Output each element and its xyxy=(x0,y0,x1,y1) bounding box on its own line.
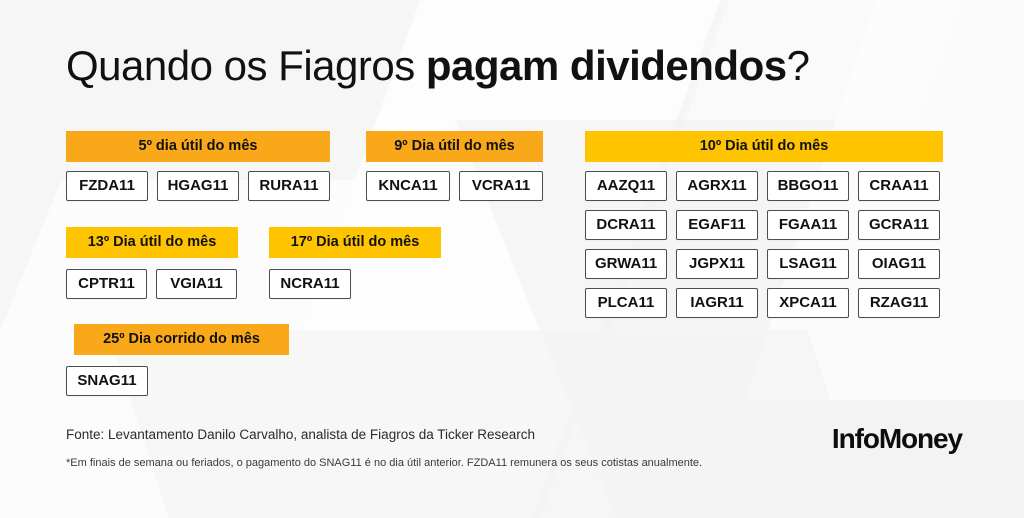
ticker-chip[interactable]: BBGO11 xyxy=(767,171,849,201)
group-header-10: 10º Dia útil do mês xyxy=(585,131,943,162)
group-9th-business-day: 9º Dia útil do mês KNCA11 VCRA11 xyxy=(366,131,543,201)
ticker-chip[interactable]: LSAG11 xyxy=(767,249,849,279)
title-suffix: ? xyxy=(787,42,810,89)
ticker-row: AAZQ11 AGRX11 BBGO11 CRAA11 xyxy=(585,171,943,201)
group-header-17: 17º Dia útil do mês xyxy=(269,227,441,258)
group-25th-calendar-day: 25º Dia corrido do mês SNAG11 xyxy=(66,324,289,396)
ticker-row: NCRA11 xyxy=(269,269,441,299)
ticker-chip[interactable]: CRAA11 xyxy=(858,171,940,201)
ticker-chip[interactable]: SNAG11 xyxy=(66,366,148,396)
ticker-chip[interactable]: DCRA11 xyxy=(585,210,667,240)
group-header-25: 25º Dia corrido do mês xyxy=(74,324,289,355)
ticker-row: CPTR11 VGIA11 xyxy=(66,269,238,299)
infomoney-logo: InfoMoney xyxy=(832,423,962,455)
source-credit: Fonte: Levantamento Danilo Carvalho, ana… xyxy=(66,427,535,442)
ticker-chip[interactable]: GCRA11 xyxy=(858,210,940,240)
ticker-row: PLCA11 IAGR11 XPCA11 RZAG11 xyxy=(585,288,943,318)
group-5th-business-day: 5º dia útil do mês FZDA11 HGAG11 RURA11 xyxy=(66,131,330,201)
ticker-chip[interactable]: CPTR11 xyxy=(66,269,147,299)
ticker-chip[interactable]: OIAG11 xyxy=(858,249,940,279)
ticker-chip[interactable]: PLCA11 xyxy=(585,288,667,318)
ticker-chip[interactable]: GRWA11 xyxy=(585,249,667,279)
title-regular: Quando os Fiagros xyxy=(66,42,426,89)
ticker-chip[interactable]: XPCA11 xyxy=(767,288,849,318)
group-17th-business-day: 17º Dia útil do mês NCRA11 xyxy=(269,227,441,299)
group-10th-business-day: 10º Dia útil do mês AAZQ11 AGRX11 BBGO11… xyxy=(585,131,943,318)
ticker-chip[interactable]: JGPX11 xyxy=(676,249,758,279)
ticker-chip[interactable]: EGAF11 xyxy=(676,210,758,240)
page-title: Quando os Fiagros pagam dividendos? xyxy=(66,40,809,92)
ticker-chip[interactable]: RURA11 xyxy=(248,171,330,201)
group-header-13: 13º Dia útil do mês xyxy=(66,227,238,258)
ticker-chip[interactable]: VGIA11 xyxy=(156,269,237,299)
ticker-row: GRWA11 JGPX11 LSAG11 OIAG11 xyxy=(585,249,943,279)
ticker-chip[interactable]: VCRA11 xyxy=(459,171,543,201)
ticker-chip[interactable]: HGAG11 xyxy=(157,171,239,201)
ticker-row: DCRA11 EGAF11 FGAA11 GCRA11 xyxy=(585,210,943,240)
ticker-chip[interactable]: KNCA11 xyxy=(366,171,450,201)
infographic-canvas: Quando os Fiagros pagam dividendos? 5º d… xyxy=(0,0,1024,518)
ticker-row: FZDA11 HGAG11 RURA11 xyxy=(66,171,330,201)
ticker-chip[interactable]: RZAG11 xyxy=(858,288,940,318)
ticker-chip[interactable]: NCRA11 xyxy=(269,269,351,299)
ticker-chip[interactable]: FGAA11 xyxy=(767,210,849,240)
group-13th-business-day: 13º Dia útil do mês CPTR11 VGIA11 xyxy=(66,227,238,299)
ticker-chip[interactable]: AGRX11 xyxy=(676,171,758,201)
ticker-row: SNAG11 xyxy=(66,366,289,396)
group-header-5: 5º dia útil do mês xyxy=(66,131,330,162)
footnote-text: *Em finais de semana ou feriados, o paga… xyxy=(66,457,702,469)
ticker-chip[interactable]: FZDA11 xyxy=(66,171,148,201)
ticker-row: KNCA11 VCRA11 xyxy=(366,171,543,201)
ticker-chip[interactable]: AAZQ11 xyxy=(585,171,667,201)
ticker-chip[interactable]: IAGR11 xyxy=(676,288,758,318)
group-header-9: 9º Dia útil do mês xyxy=(366,131,543,162)
title-bold: pagam dividendos xyxy=(426,42,787,89)
